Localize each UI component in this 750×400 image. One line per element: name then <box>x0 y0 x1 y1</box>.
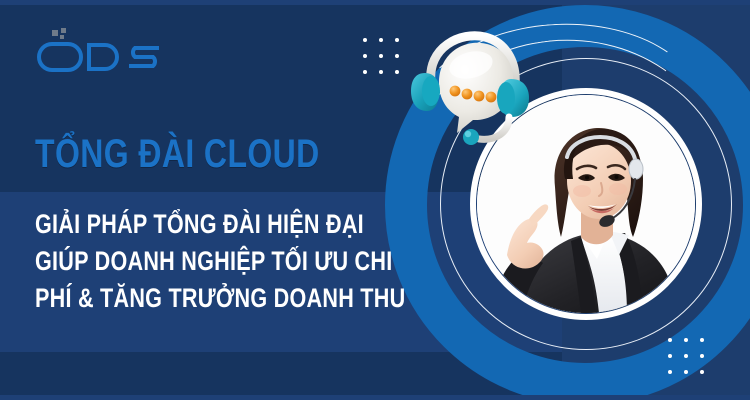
subheadline-line-3: PHÍ & TĂNG TRƯỞNG DOANH THU <box>35 280 355 317</box>
ods-logo-icon <box>35 28 165 76</box>
background-bottom-strip <box>0 395 750 400</box>
page-title: TỔNG ĐÀI CLOUD <box>35 132 320 176</box>
dot-grid-top-icon <box>363 38 399 74</box>
subheadline-line-1: GIẢI PHÁP TỔNG ĐÀI HIỆN ĐẠI <box>35 206 355 243</box>
dot-grid-bottom-icon <box>668 338 704 374</box>
headset-3d-icon <box>405 25 540 155</box>
subheadline-line-2: GIÚP DOANH NGHIỆP TỐI ƯU CHI <box>35 243 355 280</box>
promo-banner: TỔNG ĐÀI CLOUD GIẢI PHÁP TỔNG ĐÀI HIỆN Đ… <box>0 0 750 400</box>
brand-logo[interactable] <box>35 28 165 76</box>
subheadline: GIẢI PHÁP TỔNG ĐÀI HIỆN ĐẠI GIÚP DOANH N… <box>35 206 355 317</box>
